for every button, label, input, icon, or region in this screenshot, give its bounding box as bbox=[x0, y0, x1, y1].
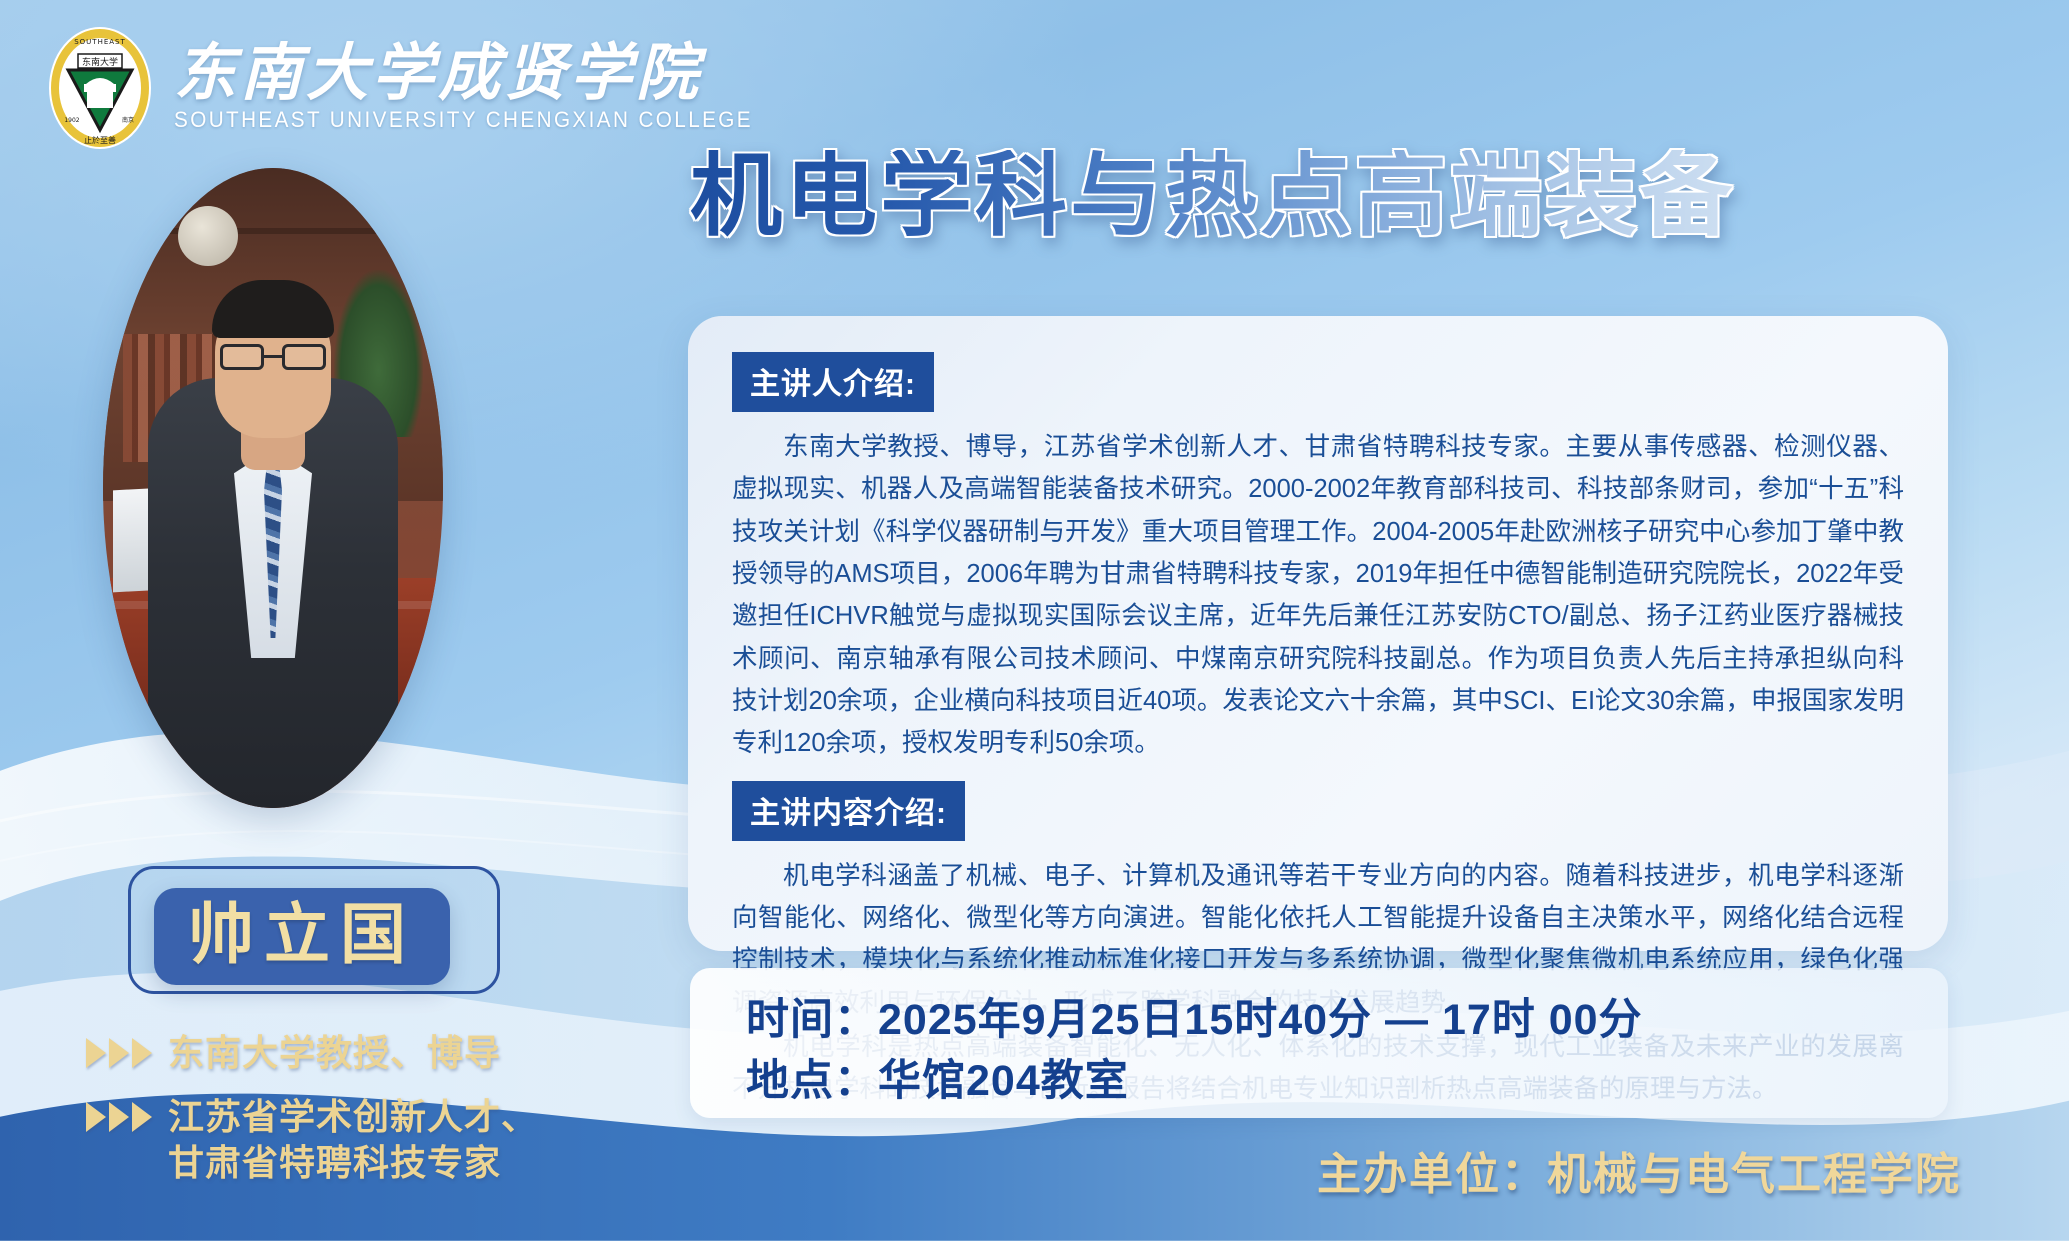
triple-arrow-icon bbox=[86, 1102, 152, 1132]
speaker-name: 帅立国 bbox=[188, 897, 416, 971]
event-place: 地点：华馆204教室 bbox=[746, 1051, 1948, 1112]
svg-text:1902: 1902 bbox=[64, 117, 79, 124]
event-time-place-box: 时间：2025年9月25日15时40分 — 17时 00分 地点：华馆204教室 bbox=[690, 968, 1948, 1118]
bio-section-label: 主讲人介绍: bbox=[732, 352, 934, 412]
university-logo: 东南大学 SOUTHEAST 1902 南京 止於至善 东南大学成贤学院 SOU… bbox=[48, 26, 803, 150]
triple-arrow-icon bbox=[86, 1038, 152, 1068]
credential-row: 江苏省学术创新人才、 甘肃省特聘科技专家 bbox=[86, 1094, 538, 1186]
speaker-name-badge: 帅立国 bbox=[154, 888, 450, 985]
svg-text:东南大学: 东南大学 bbox=[82, 56, 118, 68]
university-seal-icon: 东南大学 SOUTHEAST 1902 南京 止於至善 bbox=[48, 26, 152, 150]
speaker-credentials: 东南大学教授、博导 江苏省学术创新人才、 甘肃省特聘科技专家 bbox=[86, 1030, 538, 1204]
svg-text:南京: 南京 bbox=[122, 116, 134, 124]
credential-text: 江苏省学术创新人才、 甘肃省特聘科技专家 bbox=[168, 1094, 538, 1186]
university-name-cn: 东南大学成贤学院 bbox=[174, 43, 803, 105]
info-card: 主讲人介绍: 东南大学教授、博导，江苏省学术创新人才、甘肃省特聘科技专家。主要从… bbox=[688, 316, 1948, 951]
credential-row: 东南大学教授、博导 bbox=[86, 1030, 538, 1076]
svg-text:止於至善: 止於至善 bbox=[84, 135, 116, 145]
content-section-label: 主讲内容介绍: bbox=[732, 781, 965, 841]
university-name-en: SOUTHEAST UNIVERSITY CHENGXIAN COLLEGE bbox=[174, 107, 753, 133]
event-time: 时间：2025年9月25日15时40分 — 17时 00分 bbox=[746, 990, 1948, 1051]
page-title: 机电学科与热点高端装备 bbox=[690, 150, 1735, 242]
speaker-portrait bbox=[103, 168, 443, 808]
bio-paragraph: 东南大学教授、博导，江苏省学术创新人才、甘肃省特聘科技专家。主要从事传感器、检测… bbox=[732, 426, 1904, 765]
credential-text: 东南大学教授、博导 bbox=[168, 1030, 501, 1076]
event-organizer: 主办单位：机械与电气工程学院 bbox=[1317, 1138, 1961, 1202]
poster-root: 东南大学 SOUTHEAST 1902 南京 止於至善 东南大学成贤学院 SOU… bbox=[0, 0, 2069, 1241]
svg-text:SOUTHEAST: SOUTHEAST bbox=[74, 38, 126, 46]
